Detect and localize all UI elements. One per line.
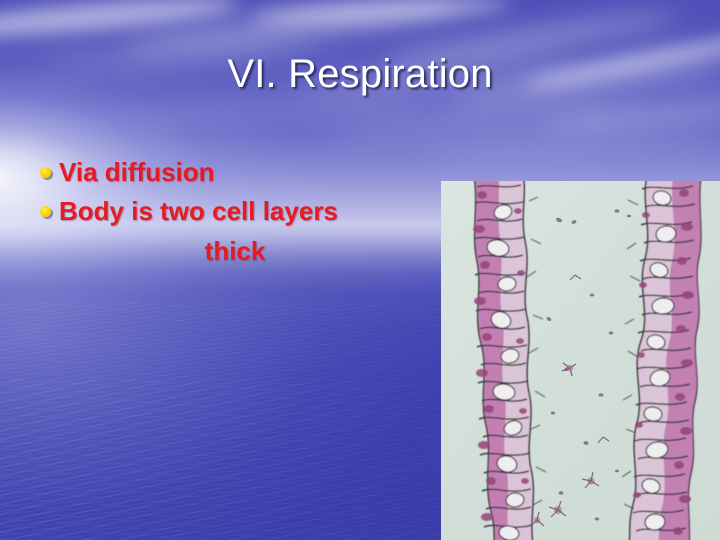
- slide-title: VI. Respiration: [0, 52, 720, 97]
- list-item: Via diffusion: [40, 155, 412, 189]
- bullet-list: Via diffusion Body is two cell layers th…: [40, 155, 412, 268]
- list-item-continuation: thick: [40, 234, 412, 268]
- bullet-dot-icon: [40, 206, 51, 217]
- list-item-label: Body is two cell layers: [59, 194, 338, 228]
- presentation-slide: VI. Respiration Via diffusion Body is tw…: [0, 0, 720, 540]
- list-item: Body is two cell layers: [40, 194, 412, 228]
- list-item-label: Via diffusion: [59, 155, 215, 189]
- histology-micrograph-image: [441, 181, 720, 540]
- bullet-dot-icon: [40, 167, 51, 178]
